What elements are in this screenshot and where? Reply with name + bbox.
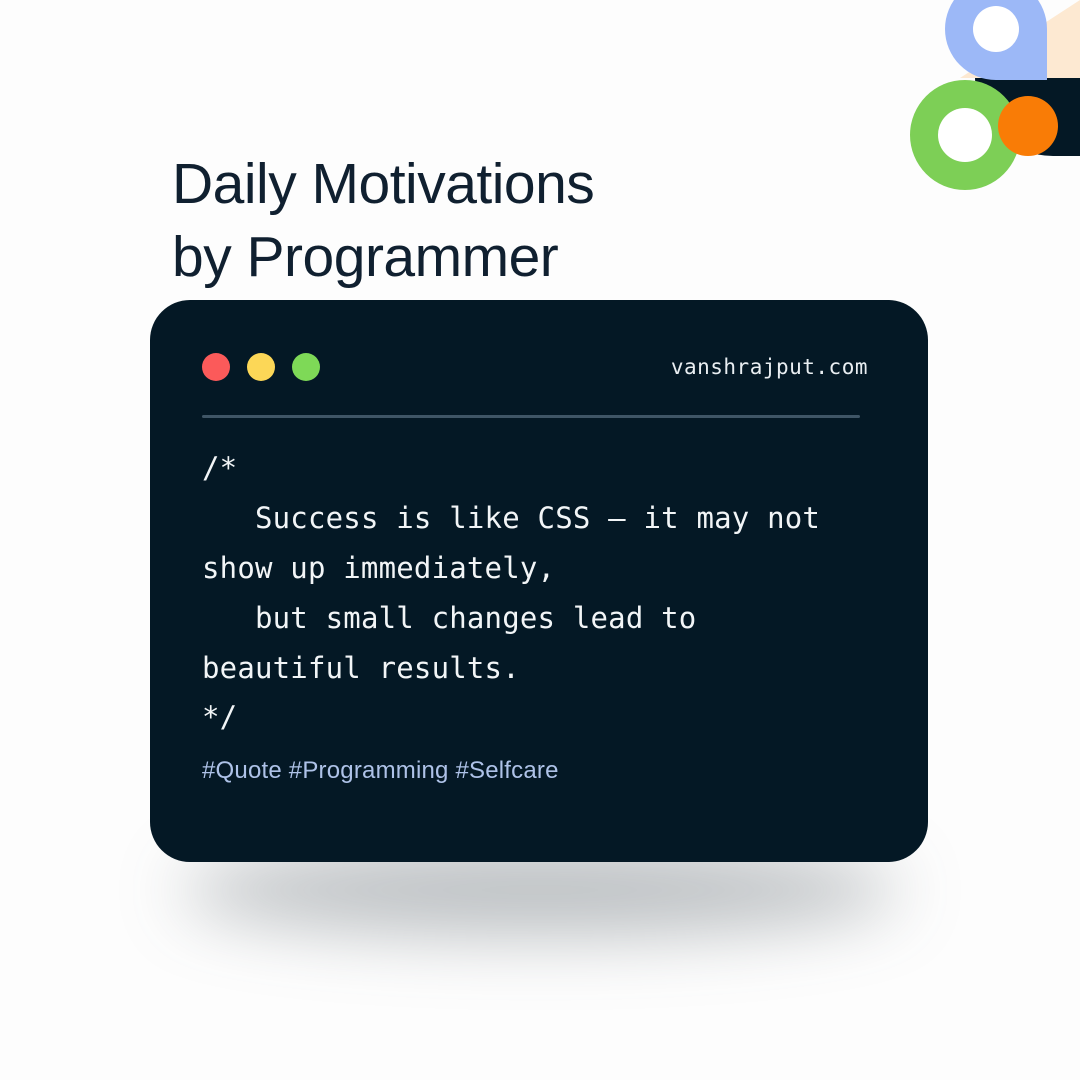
maximize-button-icon[interactable] bbox=[292, 353, 320, 381]
hashtag-list: #Quote #Programming #Selfcare bbox=[202, 757, 868, 785]
terminal-card: vanshrajput.com /* Success is like CSS —… bbox=[150, 300, 928, 862]
blue-pin-icon bbox=[945, 0, 1047, 80]
page-title: Daily Motivations by Programmer bbox=[172, 148, 812, 294]
divider bbox=[202, 415, 860, 418]
site-domain-label: vanshrajput.com bbox=[671, 355, 868, 379]
minimize-button-icon[interactable] bbox=[247, 353, 275, 381]
orange-dot-icon bbox=[998, 96, 1058, 156]
close-button-icon[interactable] bbox=[202, 353, 230, 381]
window-controls bbox=[202, 353, 320, 381]
terminal-title-bar: vanshrajput.com bbox=[202, 352, 868, 382]
brand-logo-mark bbox=[880, 0, 1080, 200]
code-comment-text: /* Success is like CSS — it may not show… bbox=[202, 444, 868, 743]
poster-canvas: Daily Motivations by Programmer vanshraj… bbox=[0, 0, 1080, 1080]
